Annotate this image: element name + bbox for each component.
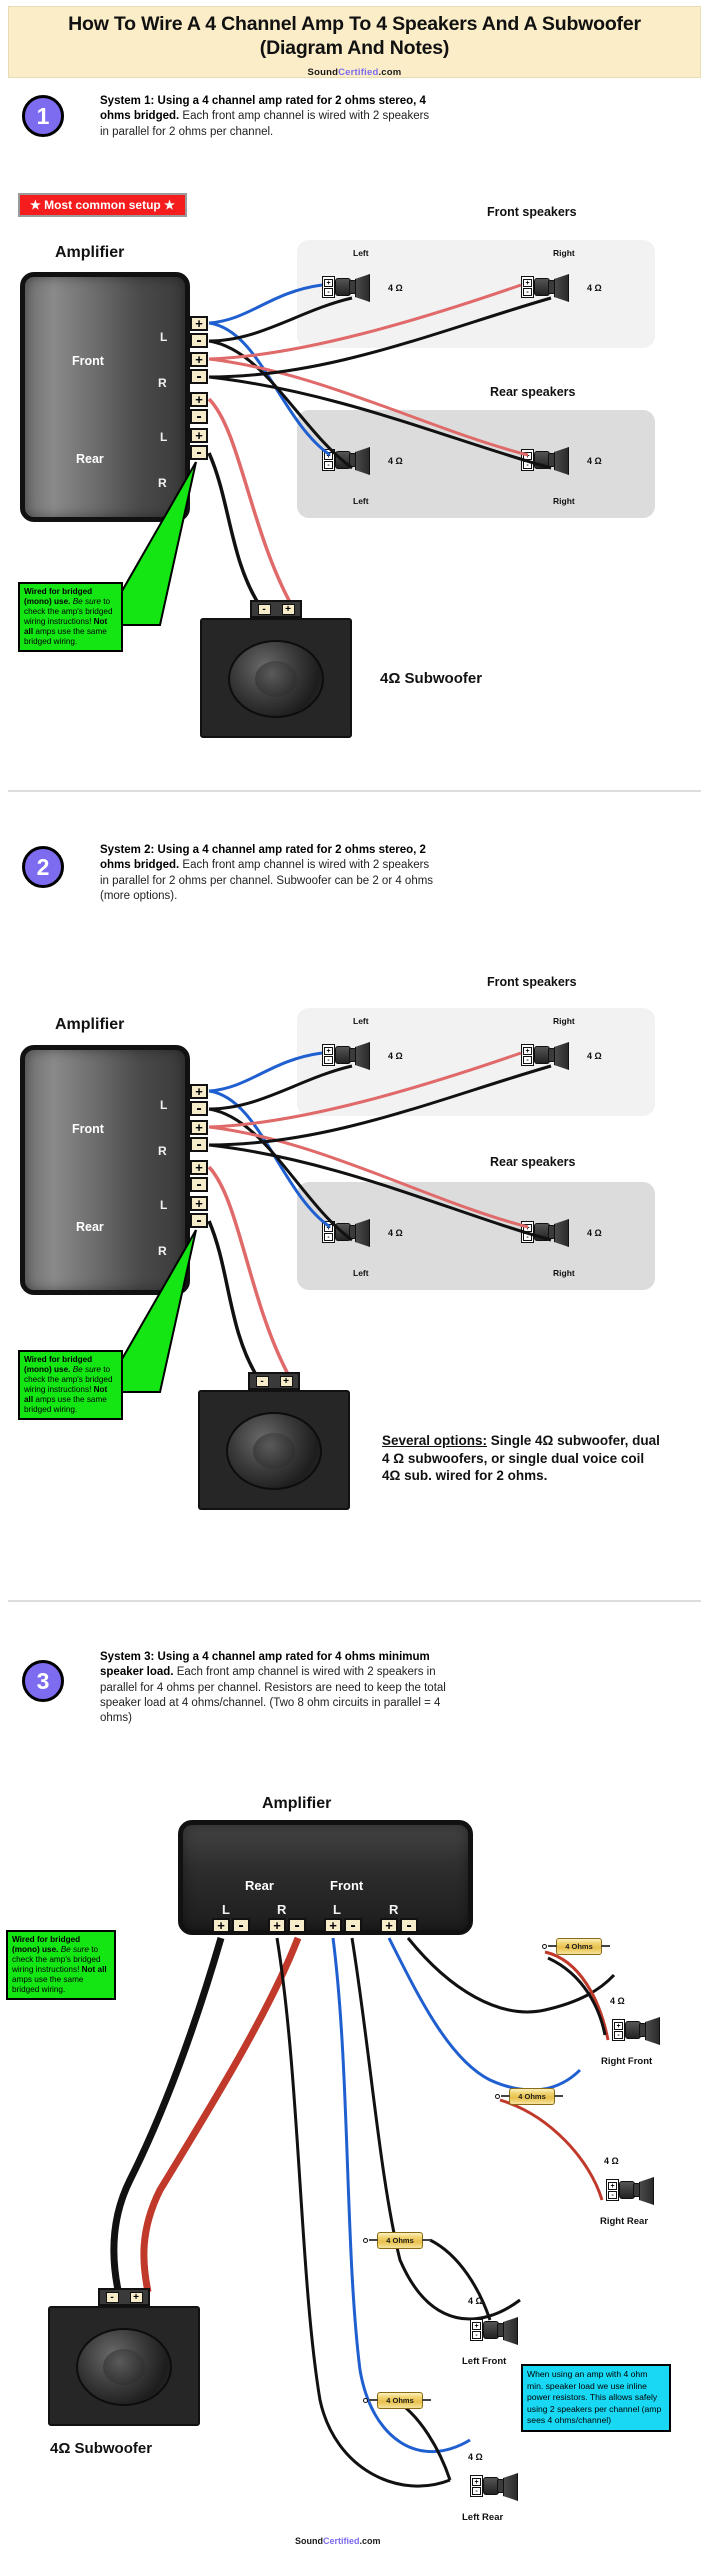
speaker-pole bbox=[633, 2183, 640, 2197]
speaker-pole bbox=[548, 1048, 555, 1062]
note-line-2: (mono) use. bbox=[24, 1365, 70, 1374]
note-line-6: instructions! bbox=[48, 617, 92, 626]
speaker-cone bbox=[355, 447, 370, 475]
speaker-left-front-3: + - bbox=[470, 2318, 522, 2344]
speaker-pole bbox=[548, 453, 555, 467]
rear-speakers-title-2: Rear speakers bbox=[490, 1155, 575, 1169]
amp-front-label-1: Front bbox=[72, 354, 104, 368]
speaker-terminal-block: + - bbox=[521, 1044, 534, 1066]
front-right-label-1: Right bbox=[553, 248, 575, 258]
terminal-front-r-plus-2[interactable]: + bbox=[190, 1120, 208, 1135]
speaker-cone bbox=[554, 1219, 569, 1247]
speaker-terminal-block: + - bbox=[322, 1221, 335, 1243]
speaker-plus: + bbox=[324, 452, 333, 460]
terminal-rear-r-plus-1[interactable]: + bbox=[190, 428, 208, 443]
rear-speakers-title-1: Rear speakers bbox=[490, 385, 575, 399]
note-line-3: Be sure bbox=[73, 1365, 101, 1374]
sub-terminal-block-1[interactable]: - + bbox=[250, 600, 302, 618]
subwoofer-dustcap-2 bbox=[253, 1433, 295, 1469]
sub-minus-1: - bbox=[258, 604, 271, 615]
impedance-right-rear: 4 Ω bbox=[604, 2156, 619, 2166]
subwoofer-dustcap-3 bbox=[103, 2349, 145, 2385]
footer-brand-part-3: .com bbox=[360, 2536, 381, 2546]
speaker-terminal-block: + - bbox=[322, 449, 335, 471]
front-right-impedance-1: 4 Ω bbox=[587, 283, 602, 293]
amp-front-r-2: R bbox=[158, 1144, 167, 1158]
speaker-cone bbox=[554, 1042, 569, 1070]
terminal-rear-l-minus-1[interactable]: - bbox=[190, 409, 208, 424]
speaker-cone bbox=[355, 1042, 370, 1070]
amp-front-label-2: Front bbox=[72, 1122, 104, 1136]
rear-right-impedance-2: 4 Ω bbox=[587, 1228, 602, 1238]
speaker-cone bbox=[503, 2317, 518, 2345]
amplifier-title-2: Amplifier bbox=[55, 1016, 124, 1034]
step-number-1: 1 bbox=[37, 103, 50, 130]
speaker-pole bbox=[497, 2479, 504, 2493]
amp-rear-label-2: Rear bbox=[76, 1220, 104, 1234]
speaker-plus: + bbox=[472, 2478, 481, 2486]
step-badge-2: 2 bbox=[22, 846, 64, 888]
resistor-lead-dot bbox=[363, 2238, 368, 2243]
bridged-note-1: Wired for bridged (mono) use. Be sure to… bbox=[18, 582, 123, 652]
speaker-pole bbox=[349, 1048, 356, 1062]
speaker-minus: - bbox=[608, 2191, 617, 2199]
note-line-1: Wired for bridged bbox=[12, 1935, 80, 1944]
impedance-right-front: 4 Ω bbox=[610, 1996, 625, 2006]
note-line-6: instructions! bbox=[48, 1385, 92, 1394]
terminal-front-r-minus-2[interactable]: - bbox=[190, 1137, 208, 1152]
terminal-rear-r-minus-3[interactable]: - bbox=[288, 1918, 306, 1933]
speaker-terminal-block: + - bbox=[470, 2475, 483, 2497]
front-left-label-1: Left bbox=[353, 248, 369, 258]
speaker-minus: - bbox=[472, 2487, 481, 2495]
speaker-front-left-1: + - bbox=[322, 275, 374, 301]
amplifier-title-3: Amplifier bbox=[262, 1795, 331, 1813]
terminal-front-r-minus-3[interactable]: - bbox=[400, 1918, 418, 1933]
amp-rear-label-1: Rear bbox=[76, 452, 104, 466]
amp-front-r-1: R bbox=[158, 376, 167, 390]
sub-plus-1: + bbox=[282, 604, 295, 615]
speaker-front-right-1: + - bbox=[521, 275, 573, 301]
speaker-terminal-block: + - bbox=[322, 276, 335, 298]
front-speakers-title-1: Front speakers bbox=[487, 205, 577, 219]
bridged-note-2: Wired for bridged (mono) use. Be sure to… bbox=[18, 1350, 123, 1420]
resistor-right-front: 4 Ohms bbox=[556, 1938, 602, 1955]
section-divider-1 bbox=[8, 790, 701, 792]
resistor-lead-dot bbox=[363, 2398, 368, 2403]
resistor-right-rear: 4 Ohms bbox=[509, 2088, 555, 2105]
label-right-front: Right Front bbox=[601, 2056, 652, 2067]
terminal-front-l-minus-1[interactable]: - bbox=[190, 333, 208, 348]
speaker-minus: - bbox=[523, 461, 532, 469]
speaker-cone bbox=[554, 274, 569, 302]
ribbon-label-1: ★ Most common setup ★ bbox=[30, 198, 175, 212]
sub-plus-2: + bbox=[280, 1376, 293, 1387]
resistor-lead-dot bbox=[542, 1944, 547, 1949]
speaker-minus: - bbox=[324, 288, 333, 296]
rear-right-label-1: Right bbox=[553, 496, 575, 506]
step-badge-1: 1 bbox=[22, 95, 64, 137]
amp-rear-l-2: L bbox=[160, 1198, 167, 1212]
speaker-right-front-3: + - bbox=[612, 2018, 664, 2044]
speaker-plus: + bbox=[324, 279, 333, 287]
subwoofer-caption-3: 4Ω Subwoofer bbox=[50, 2440, 152, 2457]
terminal-front-l-plus-1[interactable]: + bbox=[190, 316, 208, 331]
speaker-cone bbox=[645, 2017, 660, 2045]
speaker-front-right-2: + - bbox=[521, 1043, 573, 1069]
note-line-7: Not all bbox=[82, 1965, 107, 1974]
amp-front-l-2: L bbox=[160, 1098, 167, 1112]
speaker-plus: + bbox=[523, 452, 532, 460]
speaker-plus: + bbox=[523, 279, 532, 287]
resistor-lead-dot bbox=[495, 2094, 500, 2099]
terminal-front-l-plus-3[interactable]: + bbox=[324, 1918, 342, 1933]
speaker-minus: - bbox=[523, 1233, 532, 1241]
note-line-8: amps use the same bbox=[35, 1395, 106, 1404]
front-left-impedance-2: 4 Ω bbox=[388, 1051, 403, 1061]
amplifier-title-1: Amplifier bbox=[55, 244, 124, 262]
note-line-9: bridged wiring. bbox=[24, 637, 77, 646]
note-line-6: instructions! bbox=[36, 1965, 80, 1974]
speaker-cone bbox=[554, 447, 569, 475]
terminal-rear-l-minus-3[interactable]: - bbox=[232, 1918, 250, 1933]
brand-part-3: .com bbox=[378, 67, 401, 78]
footer-brand-part-1: Sound bbox=[295, 2536, 323, 2546]
amp-rear-l-1: L bbox=[160, 430, 167, 444]
terminal-rear-r-plus-3[interactable]: + bbox=[268, 1918, 286, 1933]
speaker-terminal-block: + - bbox=[521, 276, 534, 298]
amp-rear-l-3: L bbox=[222, 1902, 230, 1917]
resistor-left-front: 4 Ohms bbox=[377, 2232, 423, 2249]
label-left-front: Left Front bbox=[462, 2356, 506, 2367]
speaker-plus: + bbox=[614, 2022, 623, 2030]
speaker-minus: - bbox=[523, 288, 532, 296]
note-line-3: Be sure bbox=[61, 1945, 89, 1954]
amp-front-r-3: R bbox=[389, 1902, 398, 1917]
page-title: How To Wire A 4 Channel Amp To 4 Speaker… bbox=[25, 13, 685, 61]
rear-right-label-2: Right bbox=[553, 1268, 575, 1278]
front-speakers-title-2: Front speakers bbox=[487, 975, 577, 989]
rear-left-label-2: Left bbox=[353, 1268, 369, 1278]
infographic-page: How To Wire A 4 Channel Amp To 4 Speaker… bbox=[0, 0, 709, 2560]
step-number-3: 3 bbox=[37, 1668, 50, 1695]
terminal-rear-r-plus-2[interactable]: + bbox=[190, 1196, 208, 1211]
brand-logo: SoundCertified.com bbox=[308, 67, 402, 78]
sub-terminal-block-3[interactable]: - + bbox=[98, 2288, 150, 2306]
inline-resistor-note: When using an amp with 4 ohm min. speake… bbox=[521, 2364, 671, 2432]
amp-rear-r-3: R bbox=[277, 1902, 286, 1917]
front-left-impedance-1: 4 Ω bbox=[388, 283, 403, 293]
speaker-plus: + bbox=[608, 2182, 617, 2190]
speaker-terminal-block: + - bbox=[606, 2179, 619, 2201]
most-common-setup-ribbon: ★ Most common setup ★ bbox=[18, 193, 187, 217]
speaker-cone bbox=[355, 1219, 370, 1247]
subwoofer-dustcap-1 bbox=[255, 661, 297, 697]
speaker-plus: + bbox=[472, 2322, 481, 2330]
label-right-rear: Right Rear bbox=[600, 2216, 648, 2227]
speaker-pole bbox=[548, 280, 555, 294]
brand-part-1: Sound bbox=[308, 67, 339, 78]
speaker-plus: + bbox=[523, 1047, 532, 1055]
speaker-terminal-block: + - bbox=[521, 449, 534, 471]
speaker-plus: + bbox=[324, 1047, 333, 1055]
speaker-terminal-block: + - bbox=[470, 2319, 483, 2341]
rear-right-impedance-1: 4 Ω bbox=[587, 456, 602, 466]
resistor-left-rear: 4 Ohms bbox=[377, 2392, 423, 2409]
sub-minus-2: - bbox=[256, 1376, 269, 1387]
speaker-rear-left-1: + - bbox=[322, 448, 374, 474]
rear-left-impedance-1: 4 Ω bbox=[388, 456, 403, 466]
speaker-pole bbox=[349, 280, 356, 294]
speaker-minus: - bbox=[523, 1056, 532, 1064]
sub-minus-3: - bbox=[106, 2292, 119, 2303]
speaker-plus: + bbox=[523, 1224, 532, 1232]
terminal-rear-l-plus-2[interactable]: + bbox=[190, 1160, 208, 1175]
note-line-3: Be sure bbox=[73, 597, 101, 606]
speaker-minus: - bbox=[614, 2031, 623, 2039]
speaker-left-rear-3: + - bbox=[470, 2474, 522, 2500]
impedance-left-front: 4 Ω bbox=[468, 2296, 483, 2306]
speaker-pole bbox=[349, 1225, 356, 1239]
page-header: How To Wire A 4 Channel Amp To 4 Speaker… bbox=[8, 6, 701, 78]
amp-front-l-3: L bbox=[333, 1902, 341, 1917]
terminal-rear-r-minus-2[interactable]: - bbox=[190, 1213, 208, 1228]
step-description-3: System 3: Using a 4 channel amp rated fo… bbox=[100, 1650, 450, 1726]
sub-terminal-block-2[interactable]: - + bbox=[248, 1372, 300, 1390]
note-line-2: (mono) use. bbox=[12, 1945, 58, 1954]
several-options-heading: Several options: bbox=[382, 1433, 487, 1448]
note-line-1: Wired for bridged bbox=[24, 1355, 92, 1364]
speaker-right-rear-3: + - bbox=[606, 2178, 658, 2204]
note-line-8: amps use the same bbox=[35, 627, 106, 636]
front-left-label-2: Left bbox=[353, 1016, 369, 1026]
speaker-front-left-2: + - bbox=[322, 1043, 374, 1069]
note-line-1: Wired for bridged bbox=[24, 587, 92, 596]
note-line-8: amps use the same bbox=[12, 1975, 83, 1984]
step-description-2: System 2: Using a 4 channel amp rated fo… bbox=[100, 843, 440, 904]
front-right-impedance-2: 4 Ω bbox=[587, 1051, 602, 1061]
terminal-front-l-minus-3[interactable]: - bbox=[344, 1918, 362, 1933]
speaker-pole bbox=[639, 2023, 646, 2037]
terminal-front-l-plus-2[interactable]: + bbox=[190, 1084, 208, 1099]
subwoofer-caption-1: 4Ω Subwoofer bbox=[380, 670, 482, 687]
terminal-rear-l-plus-1[interactable]: + bbox=[190, 392, 208, 407]
speaker-rear-right-1: + - bbox=[521, 448, 573, 474]
speaker-rear-left-2: + - bbox=[322, 1220, 374, 1246]
rear-left-impedance-2: 4 Ω bbox=[388, 1228, 403, 1238]
speaker-pole bbox=[548, 1225, 555, 1239]
terminal-front-r-plus-3[interactable]: + bbox=[380, 1918, 398, 1933]
speaker-pole bbox=[497, 2323, 504, 2337]
speaker-terminal-block: + - bbox=[521, 1221, 534, 1243]
amp-front-label-3: Front bbox=[330, 1878, 363, 1893]
footer-brand: SoundCertified.com bbox=[295, 2536, 381, 2546]
rear-left-label-1: Left bbox=[353, 496, 369, 506]
terminal-front-l-minus-2[interactable]: - bbox=[190, 1101, 208, 1116]
speaker-cone bbox=[355, 274, 370, 302]
speaker-terminal-block: + - bbox=[322, 1044, 335, 1066]
footer-brand-part-2: Certified bbox=[323, 2536, 360, 2546]
speaker-plus: + bbox=[324, 1224, 333, 1232]
section-divider-2 bbox=[8, 1600, 701, 1602]
speaker-cone bbox=[639, 2177, 654, 2205]
terminal-rear-l-minus-2[interactable]: - bbox=[190, 1177, 208, 1192]
step-number-2: 2 bbox=[37, 854, 50, 881]
speaker-rear-right-2: + - bbox=[521, 1220, 573, 1246]
speaker-minus: - bbox=[472, 2331, 481, 2339]
several-options-text: Several options: Single 4Ω subwoofer, du… bbox=[382, 1432, 662, 1485]
amp-rear-r-1: R bbox=[158, 476, 167, 490]
note-line-2: (mono) use. bbox=[24, 597, 70, 606]
amp-rear-r-2: R bbox=[158, 1244, 167, 1258]
amp-front-l-1: L bbox=[160, 330, 167, 344]
speaker-pole bbox=[349, 453, 356, 467]
brand-part-2: Certified bbox=[338, 67, 378, 78]
label-left-rear: Left Rear bbox=[462, 2512, 503, 2523]
speaker-minus: - bbox=[324, 461, 333, 469]
note-line-9: bridged wiring. bbox=[24, 1405, 77, 1414]
front-right-label-2: Right bbox=[553, 1016, 575, 1026]
note-line-9: bridged wiring. bbox=[12, 1985, 65, 1994]
terminal-front-r-plus-1[interactable]: + bbox=[190, 352, 208, 367]
speaker-terminal-block: + - bbox=[612, 2019, 625, 2041]
speaker-cone bbox=[503, 2473, 518, 2501]
bridged-note-3: Wired for bridged (mono) use. Be sure to… bbox=[6, 1930, 116, 2000]
step-badge-3: 3 bbox=[22, 1660, 64, 1702]
step-description-1: System 1: Using a 4 channel amp rated fo… bbox=[100, 94, 430, 140]
speaker-minus: - bbox=[324, 1233, 333, 1241]
terminal-rear-r-minus-1[interactable]: - bbox=[190, 445, 208, 460]
amp-rear-label-3: Rear bbox=[245, 1878, 274, 1893]
sub-plus-3: + bbox=[130, 2292, 143, 2303]
speaker-minus: - bbox=[324, 1056, 333, 1064]
impedance-left-rear: 4 Ω bbox=[468, 2452, 483, 2462]
terminal-front-r-minus-1[interactable]: - bbox=[190, 369, 208, 384]
terminal-rear-l-plus-3[interactable]: + bbox=[212, 1918, 230, 1933]
